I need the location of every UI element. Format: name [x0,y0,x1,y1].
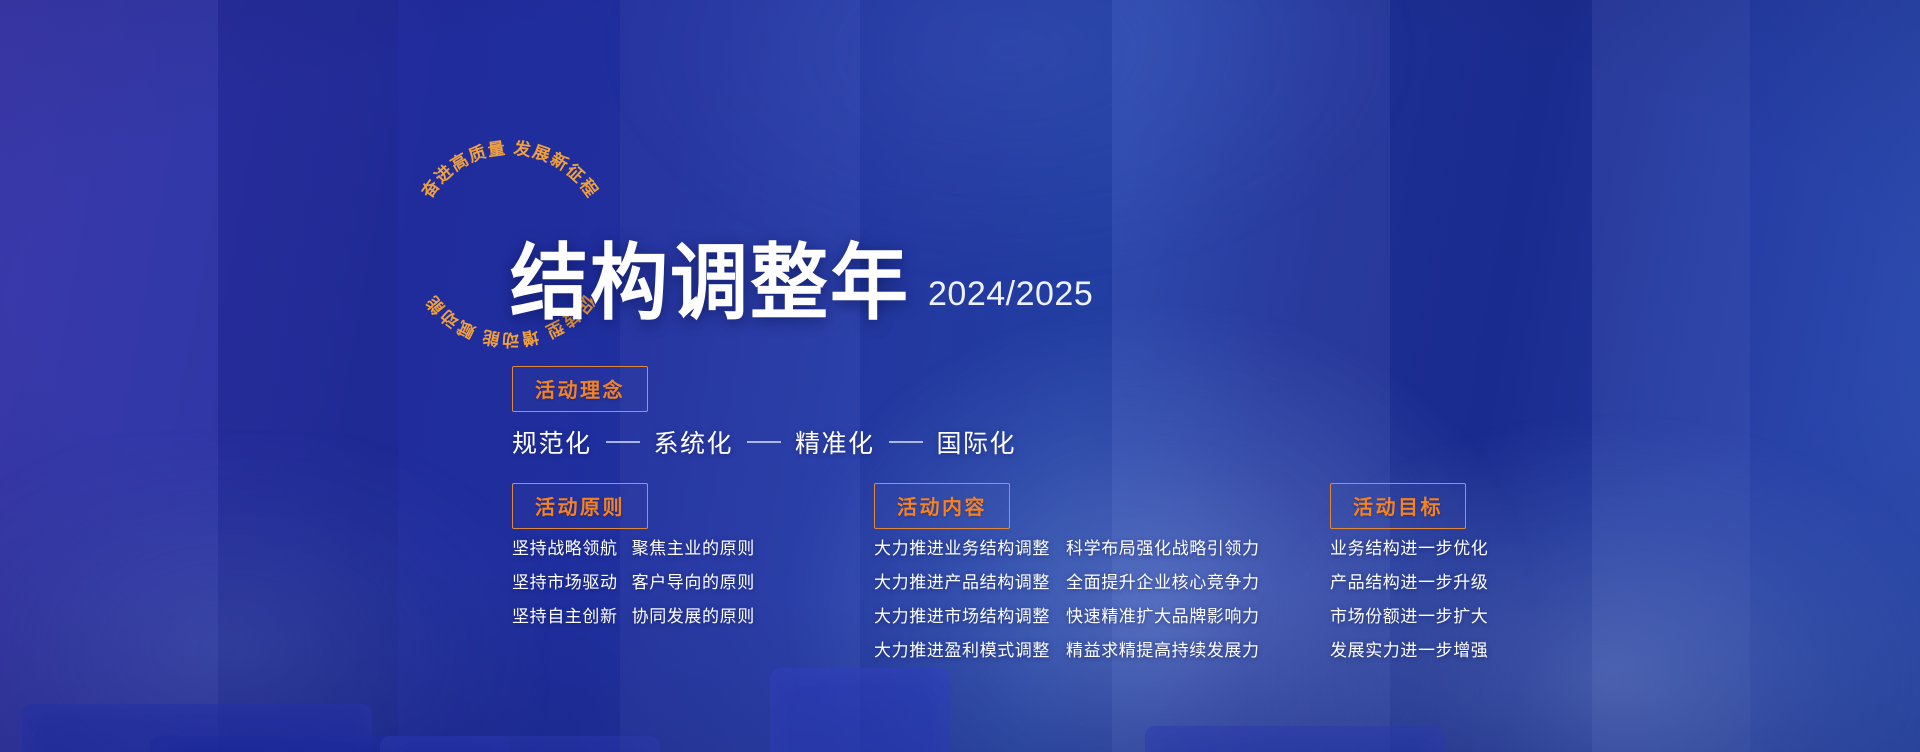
content-4-a: 大力推进盈利模式调整 [874,636,1050,661]
list-item: 大力推进产品结构调整 全面提升企业核心竞争力 [874,568,1260,593]
list-item: 市场份额进一步扩大 [1330,602,1488,627]
badge-activity-concept[interactable]: 活动理念 [512,366,648,412]
goals-list: 业务结构进一步优化 产品结构进一步升级 市场份额进一步扩大 发展实力进一步增强 [1330,534,1488,670]
badge-activity-content-label: 活动内容 [897,491,987,520]
list-item: 发展实力进一步增强 [1330,636,1488,661]
content-2-b: 全面提升企业核心竞争力 [1066,568,1260,593]
poster-canvas: 奋进高质量 发展新征程 促转型 增动能 赋动能 结构调整年 2024/2025 … [0,0,1920,752]
page-title: 结构调整年 [510,244,910,323]
concept-chain: 规范化 系统化 精准化 国际化 [512,424,1016,460]
concept-separator-2 [747,441,781,443]
concept-separator-1 [606,441,640,443]
concept-separator-3 [889,441,923,443]
content-2-a: 大力推进产品结构调整 [874,568,1050,593]
badge-activity-content[interactable]: 活动内容 [874,483,1010,529]
list-item: 坚持自主创新 协同发展的原则 [512,602,755,627]
contents-list: 大力推进业务结构调整 科学布局强化战略引领力 大力推进产品结构调整 全面提升企业… [874,534,1260,670]
list-item: 坚持市场驱动 客户导向的原则 [512,568,755,593]
goal-1: 业务结构进一步优化 [1330,534,1488,559]
principle-3-b: 协同发展的原则 [632,602,755,627]
list-item: 坚持战略领航 聚焦主业的原则 [512,534,755,559]
list-item: 产品结构进一步升级 [1330,568,1488,593]
list-item: 大力推进业务结构调整 科学布局强化战略引领力 [874,534,1260,559]
concept-item-2: 系统化 [654,424,734,460]
principle-3-a: 坚持自主创新 [512,602,618,627]
concept-item-3: 精准化 [795,424,875,460]
badge-activity-concept-label: 活动理念 [535,374,625,403]
concept-item-1: 规范化 [512,424,592,460]
title-block: 结构调整年 2024/2025 [510,248,1093,322]
seal-top-label: 奋进高质量 发展新征程 [417,138,602,203]
goal-4: 发展实力进一步增强 [1330,636,1488,661]
badge-activity-goal-label: 活动目标 [1353,491,1443,520]
content-1-b: 科学布局强化战略引领力 [1066,534,1260,559]
principle-1-a: 坚持战略领航 [512,534,618,559]
concept-item-4: 国际化 [937,424,1017,460]
list-item: 业务结构进一步优化 [1330,534,1488,559]
principle-2-b: 客户导向的原则 [632,568,755,593]
content-3-b: 快速精准扩大品牌影响力 [1066,602,1260,627]
title-year-range: 2024/2025 [928,275,1093,322]
seal-top-textpath: 奋进高质量 发展新征程 [417,138,602,203]
content-3-a: 大力推进市场结构调整 [874,602,1050,627]
principle-2-a: 坚持市场驱动 [512,568,618,593]
badge-activity-principle[interactable]: 活动原则 [512,483,648,529]
content-1-a: 大力推进业务结构调整 [874,534,1050,559]
goal-3: 市场份额进一步扩大 [1330,602,1488,627]
content-4-b: 精益求精提高持续发展力 [1066,636,1260,661]
goal-2: 产品结构进一步升级 [1330,568,1488,593]
list-item: 大力推进盈利模式调整 精益求精提高持续发展力 [874,636,1260,661]
badge-activity-principle-label: 活动原则 [535,491,625,520]
list-item: 大力推进市场结构调整 快速精准扩大品牌影响力 [874,602,1260,627]
principles-list: 坚持战略领航 聚焦主业的原则 坚持市场驱动 客户导向的原则 坚持自主创新 协同发… [512,534,755,636]
principle-1-b: 聚焦主业的原则 [632,534,755,559]
badge-activity-goal[interactable]: 活动目标 [1330,483,1466,529]
